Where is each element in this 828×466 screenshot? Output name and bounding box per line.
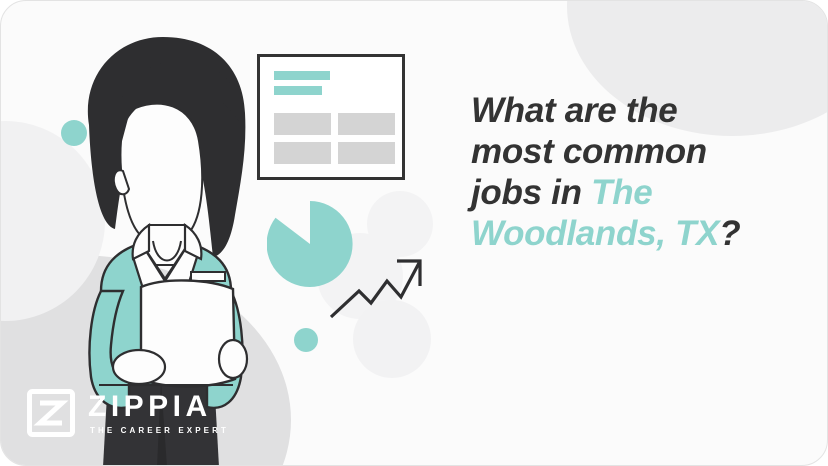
- zippia-z-mark-icon: [27, 389, 75, 437]
- logo-tagline: THE CAREER EXPERT: [90, 427, 229, 435]
- headline-location-part-1: The: [591, 173, 652, 212]
- headline-line-3-prefix: jobs in: [471, 173, 591, 212]
- headline-question-mark: ?: [719, 214, 740, 253]
- decor-blob-middle-upper: [367, 191, 433, 257]
- headline-line-1: What are the: [471, 91, 677, 130]
- zippia-logo[interactable]: ZIPPIA THE CAREER EXPERT: [27, 389, 229, 437]
- document-cell: [338, 113, 395, 135]
- headline-location-part-2: Woodlands, TX: [471, 214, 719, 253]
- document-cell: [338, 142, 395, 164]
- logo-wordmark: ZIPPIA: [88, 392, 229, 422]
- page-title: What are the most common jobs in The Woo…: [471, 91, 811, 255]
- promo-card: What are the most common jobs in The Woo…: [0, 0, 828, 466]
- logo-text: ZIPPIA THE CAREER EXPERT: [88, 392, 229, 435]
- teal-dot-middle-icon: [294, 328, 318, 352]
- headline-line-2: most common: [471, 132, 707, 171]
- trend-up-arrow-icon: [329, 253, 425, 319]
